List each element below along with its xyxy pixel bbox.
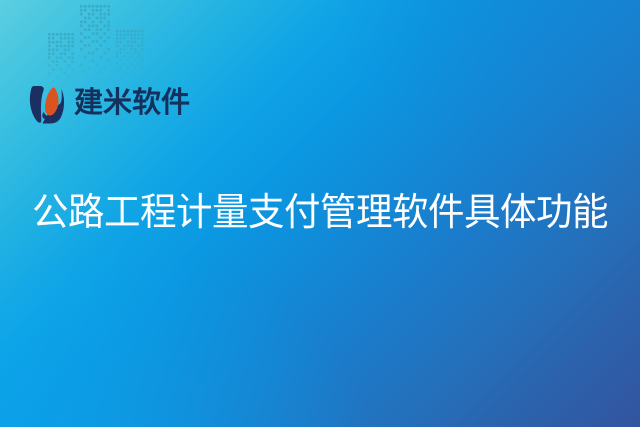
center-building (80, 5, 110, 82)
banner-title-container: 公路工程计量支付管理软件具体功能 (0, 181, 640, 245)
brand-name: 建米软件 (74, 89, 190, 118)
brand-logo: 建米软件 (28, 82, 190, 124)
page-title: 公路工程计量支付管理软件具体功能 (32, 192, 608, 235)
jianmi-logo-mark-icon (28, 82, 68, 124)
pixel-building-skyline-icon (44, 0, 154, 88)
promo-banner: 建米软件 公路工程计量支付管理软件具体功能 (0, 0, 640, 427)
left-building (48, 33, 74, 82)
right-building (116, 30, 143, 79)
